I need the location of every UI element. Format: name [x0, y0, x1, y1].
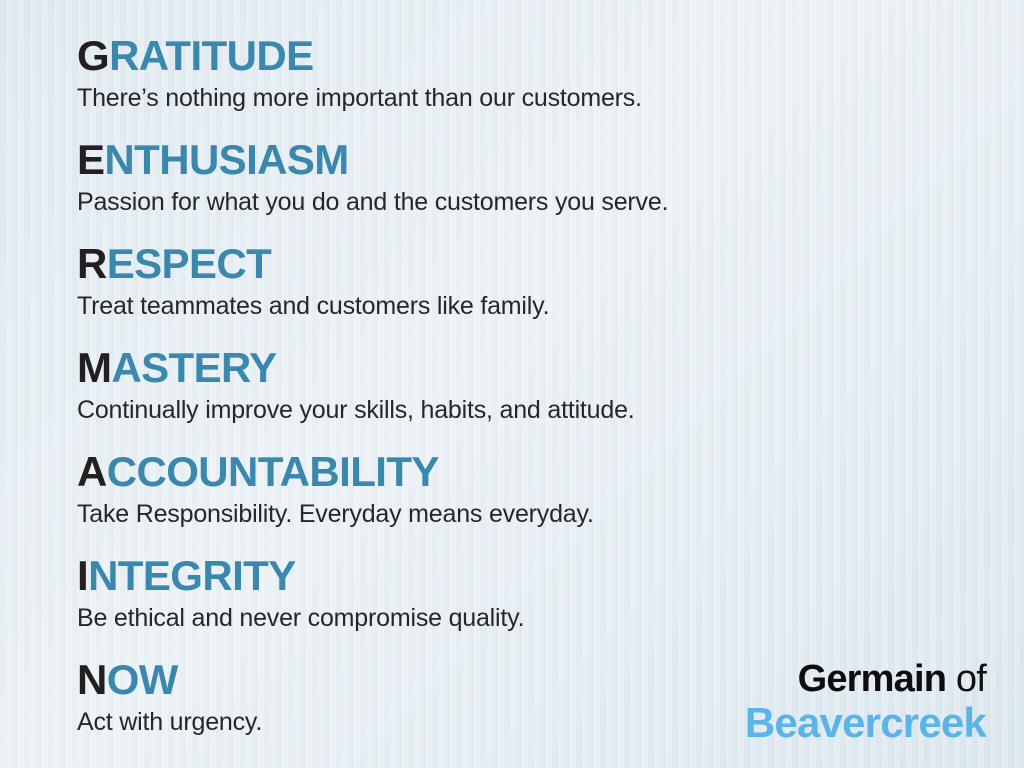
logo-brand-text: Germain — [798, 658, 947, 700]
value-block-integrity: INTEGRITY Be ethical and never compromis… — [77, 554, 984, 634]
value-rest: ASTERY — [111, 344, 276, 391]
value-heading-gratitude: GRATITUDE — [77, 34, 984, 78]
value-block-enthusiasm: ENTHUSIASM Passion for what you do and t… — [77, 138, 984, 218]
logo-line-brand: Germain of — [745, 658, 986, 700]
value-description-mastery: Continually improve your skills, habits,… — [77, 394, 984, 426]
value-rest: NTEGRITY — [88, 552, 296, 599]
value-description-accountability: Take Responsibility. Everyday means ever… — [77, 498, 984, 530]
value-heading-accountability: ACCOUNTABILITY — [77, 450, 984, 494]
value-initial: G — [77, 32, 109, 79]
value-description-enthusiasm: Passion for what you do and the customer… — [77, 186, 984, 218]
value-heading-enthusiasm: ENTHUSIASM — [77, 138, 984, 182]
value-block-mastery: MASTERY Continually improve your skills,… — [77, 346, 984, 426]
value-block-respect: RESPECT Treat teammates and customers li… — [77, 242, 984, 322]
logo-connector-text: of — [956, 658, 986, 700]
values-list: GRATITUDE There’s nothing more important… — [0, 0, 1024, 768]
value-rest: CCOUNTABILITY — [107, 448, 439, 495]
values-slide: GRATITUDE There’s nothing more important… — [0, 0, 1024, 768]
value-initial: E — [77, 136, 104, 183]
value-initial: M — [77, 344, 111, 391]
value-initial: A — [77, 448, 107, 495]
value-description-integrity: Be ethical and never compromise quality. — [77, 602, 984, 634]
value-heading-respect: RESPECT — [77, 242, 984, 286]
value-rest: OW — [107, 656, 178, 703]
value-block-accountability: ACCOUNTABILITY Take Responsibility. Ever… — [77, 450, 984, 530]
value-rest: RATITUDE — [109, 32, 313, 79]
dealership-logo: Germain of Beavercreek — [745, 658, 986, 746]
value-initial: N — [77, 656, 107, 703]
value-block-gratitude: GRATITUDE There’s nothing more important… — [77, 34, 984, 114]
value-description-respect: Treat teammates and customers like famil… — [77, 290, 984, 322]
value-initial: I — [77, 552, 88, 599]
value-rest: NTHUSIASM — [104, 136, 348, 183]
value-heading-integrity: INTEGRITY — [77, 554, 984, 598]
value-rest: ESPECT — [107, 240, 271, 287]
value-initial: R — [77, 240, 107, 287]
value-description-gratitude: There’s nothing more important than our … — [77, 82, 984, 114]
value-heading-mastery: MASTERY — [77, 346, 984, 390]
logo-location-text: Beavercreek — [745, 700, 986, 746]
